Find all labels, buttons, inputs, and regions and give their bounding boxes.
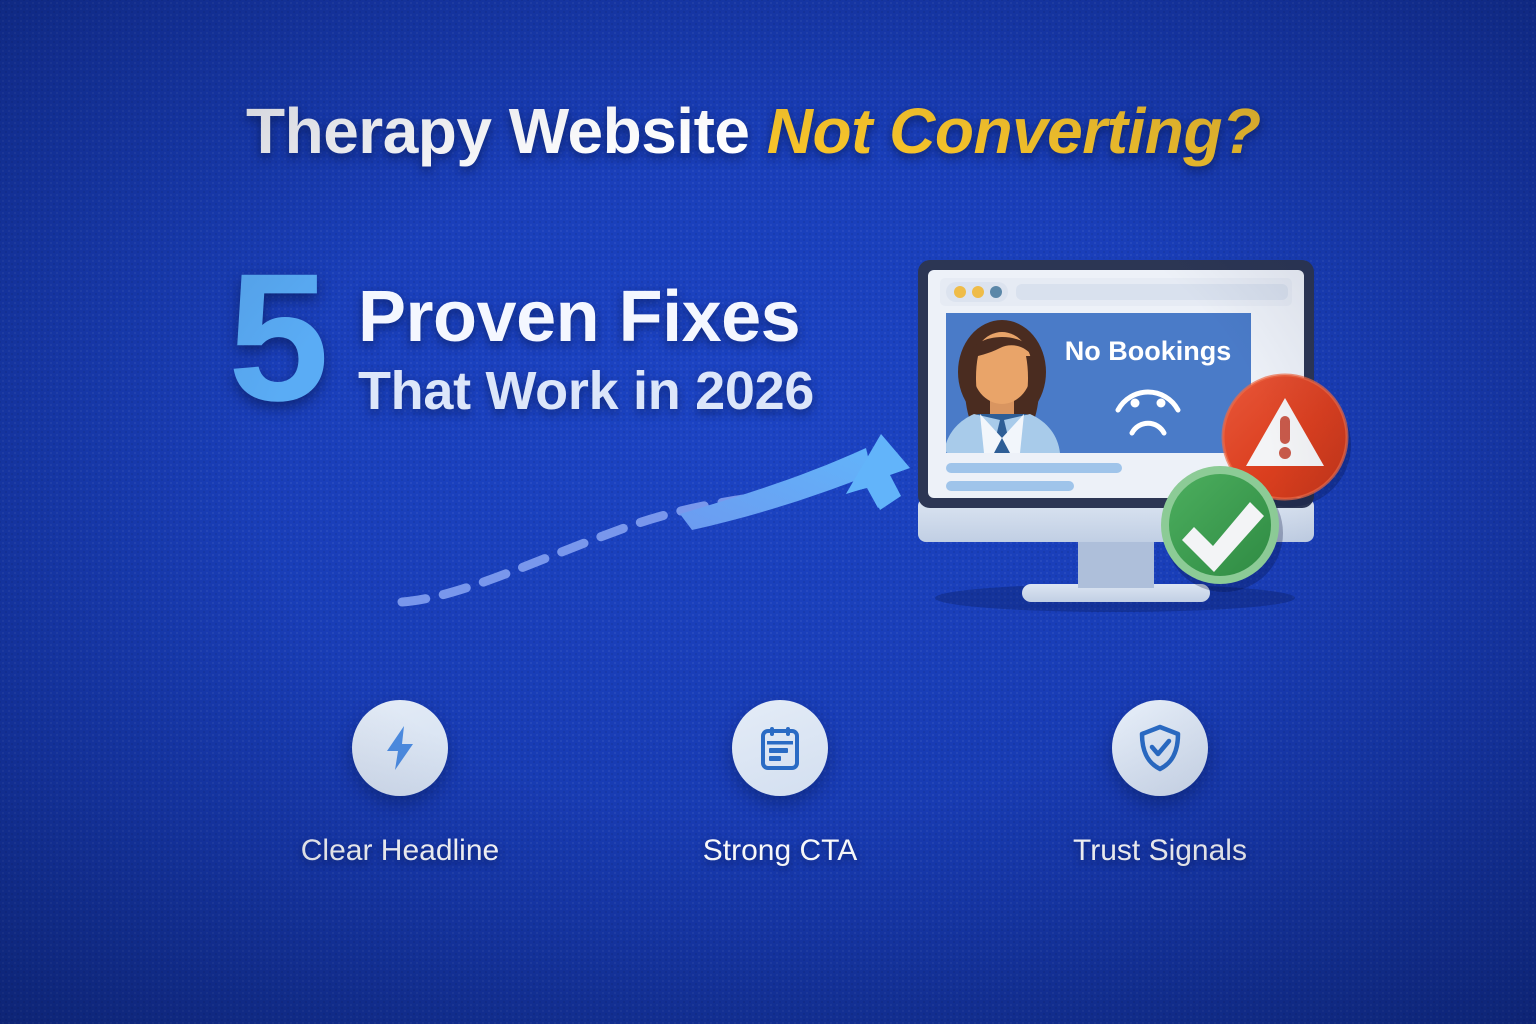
feature-label-2: Strong CTA [703,834,858,868]
hero-headline: No Bookings [1065,336,1232,366]
lightning-bolt-icon [374,722,426,774]
title-part-white: Therapy Website [246,95,767,167]
feature-item-strong-cta[interactable]: Strong CTA [620,700,940,868]
feature-row: Clear Headline Strong CTA [240,700,1320,890]
sad-face-eye-right [1157,399,1166,408]
calendar-icon [754,722,806,774]
feature-label-3: Trust Signals [1073,834,1247,868]
content-line-2 [946,481,1074,491]
subheadline-block: 5 Proven Fixes That Work in 2026 [228,254,848,454]
feature-label-1: Clear Headline [301,834,499,868]
url-bar [1016,284,1288,300]
content-line-1 [946,463,1122,473]
browser-dot-2 [972,286,984,298]
browser-dot-3 [990,286,1002,298]
feature-item-trust-signals[interactable]: Trust Signals [1000,700,1320,868]
subheadline-primary: Proven Fixes [358,278,814,356]
monitor-neck [1078,538,1154,588]
curved-arrow-icon [380,430,920,630]
title-part-yellow: Not Converting? [767,95,1261,167]
shield-check-icon [1134,722,1186,774]
poster-canvas: Therapy Website Not Converting? 5 Proven… [0,0,1536,1024]
browser-chrome [940,278,1292,306]
curved-arrow [380,430,920,630]
feature-item-clear-headline[interactable]: Clear Headline [240,700,560,868]
feature-icon-circle-2 [732,700,828,796]
page-title: Therapy Website Not Converting? [246,94,1261,168]
feature-icon-circle-1 [352,700,448,796]
subheadline-secondary: That Work in 2026 [358,362,814,420]
browser-dot-1 [954,286,966,298]
monitor-illustration: No Bookings [900,250,1370,620]
feature-icon-circle-3 [1112,700,1208,796]
fix-count-number: 5 [228,246,329,428]
monitor-svg: No Bookings [900,250,1370,620]
subheadline-lines: Proven Fixes That Work in 2026 [358,278,814,420]
sad-face-eye-left [1131,399,1140,408]
